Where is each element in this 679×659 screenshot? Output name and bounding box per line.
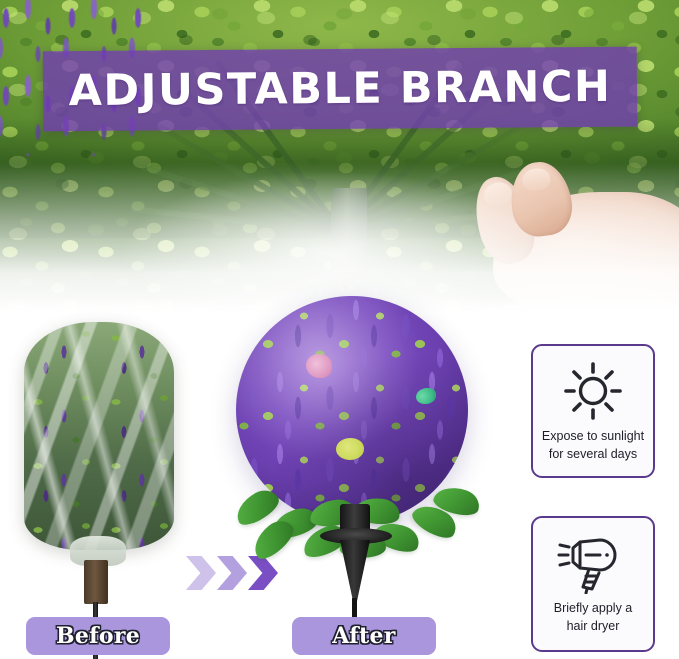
after-label-pill: After xyxy=(292,617,436,655)
tip-line-1: Expose to sunlight xyxy=(542,428,644,446)
sun-icon xyxy=(555,358,631,424)
title-banner: ADJUSTABLE BRANCH xyxy=(43,47,638,132)
tip-line-2: for several days xyxy=(542,446,644,464)
tip-text-sunlight: Expose to sunlight for several days xyxy=(542,428,644,464)
before-label-text: Before xyxy=(56,623,140,649)
after-label-text: After xyxy=(332,623,395,649)
tip-card-sunlight: Expose to sunlight for several days xyxy=(531,344,655,478)
tip-line-2: hair dryer xyxy=(554,618,633,636)
hair-dryer-icon xyxy=(555,530,631,596)
hero-white-fade xyxy=(0,162,679,312)
product-infographic: ADJUSTABLE BRANCH xyxy=(0,0,679,659)
before-label-pill: Before xyxy=(26,617,170,655)
tip-line-1: Briefly apply a xyxy=(554,600,633,618)
before-product-image xyxy=(18,322,188,612)
banner-title: ADJUSTABLE BRANCH xyxy=(68,65,611,112)
before-stake-sleeve xyxy=(84,560,108,604)
plastic-wrap-sheen xyxy=(24,322,174,550)
chevron-icon-1 xyxy=(186,556,216,590)
tip-text-hair-dryer: Briefly apply a hair dryer xyxy=(554,600,633,636)
pink-flower-accent xyxy=(306,354,332,378)
tip-card-hair-dryer: Briefly apply a hair dryer xyxy=(531,516,655,652)
after-product-image xyxy=(228,296,484,616)
yellow-leaf-accent xyxy=(336,438,364,460)
